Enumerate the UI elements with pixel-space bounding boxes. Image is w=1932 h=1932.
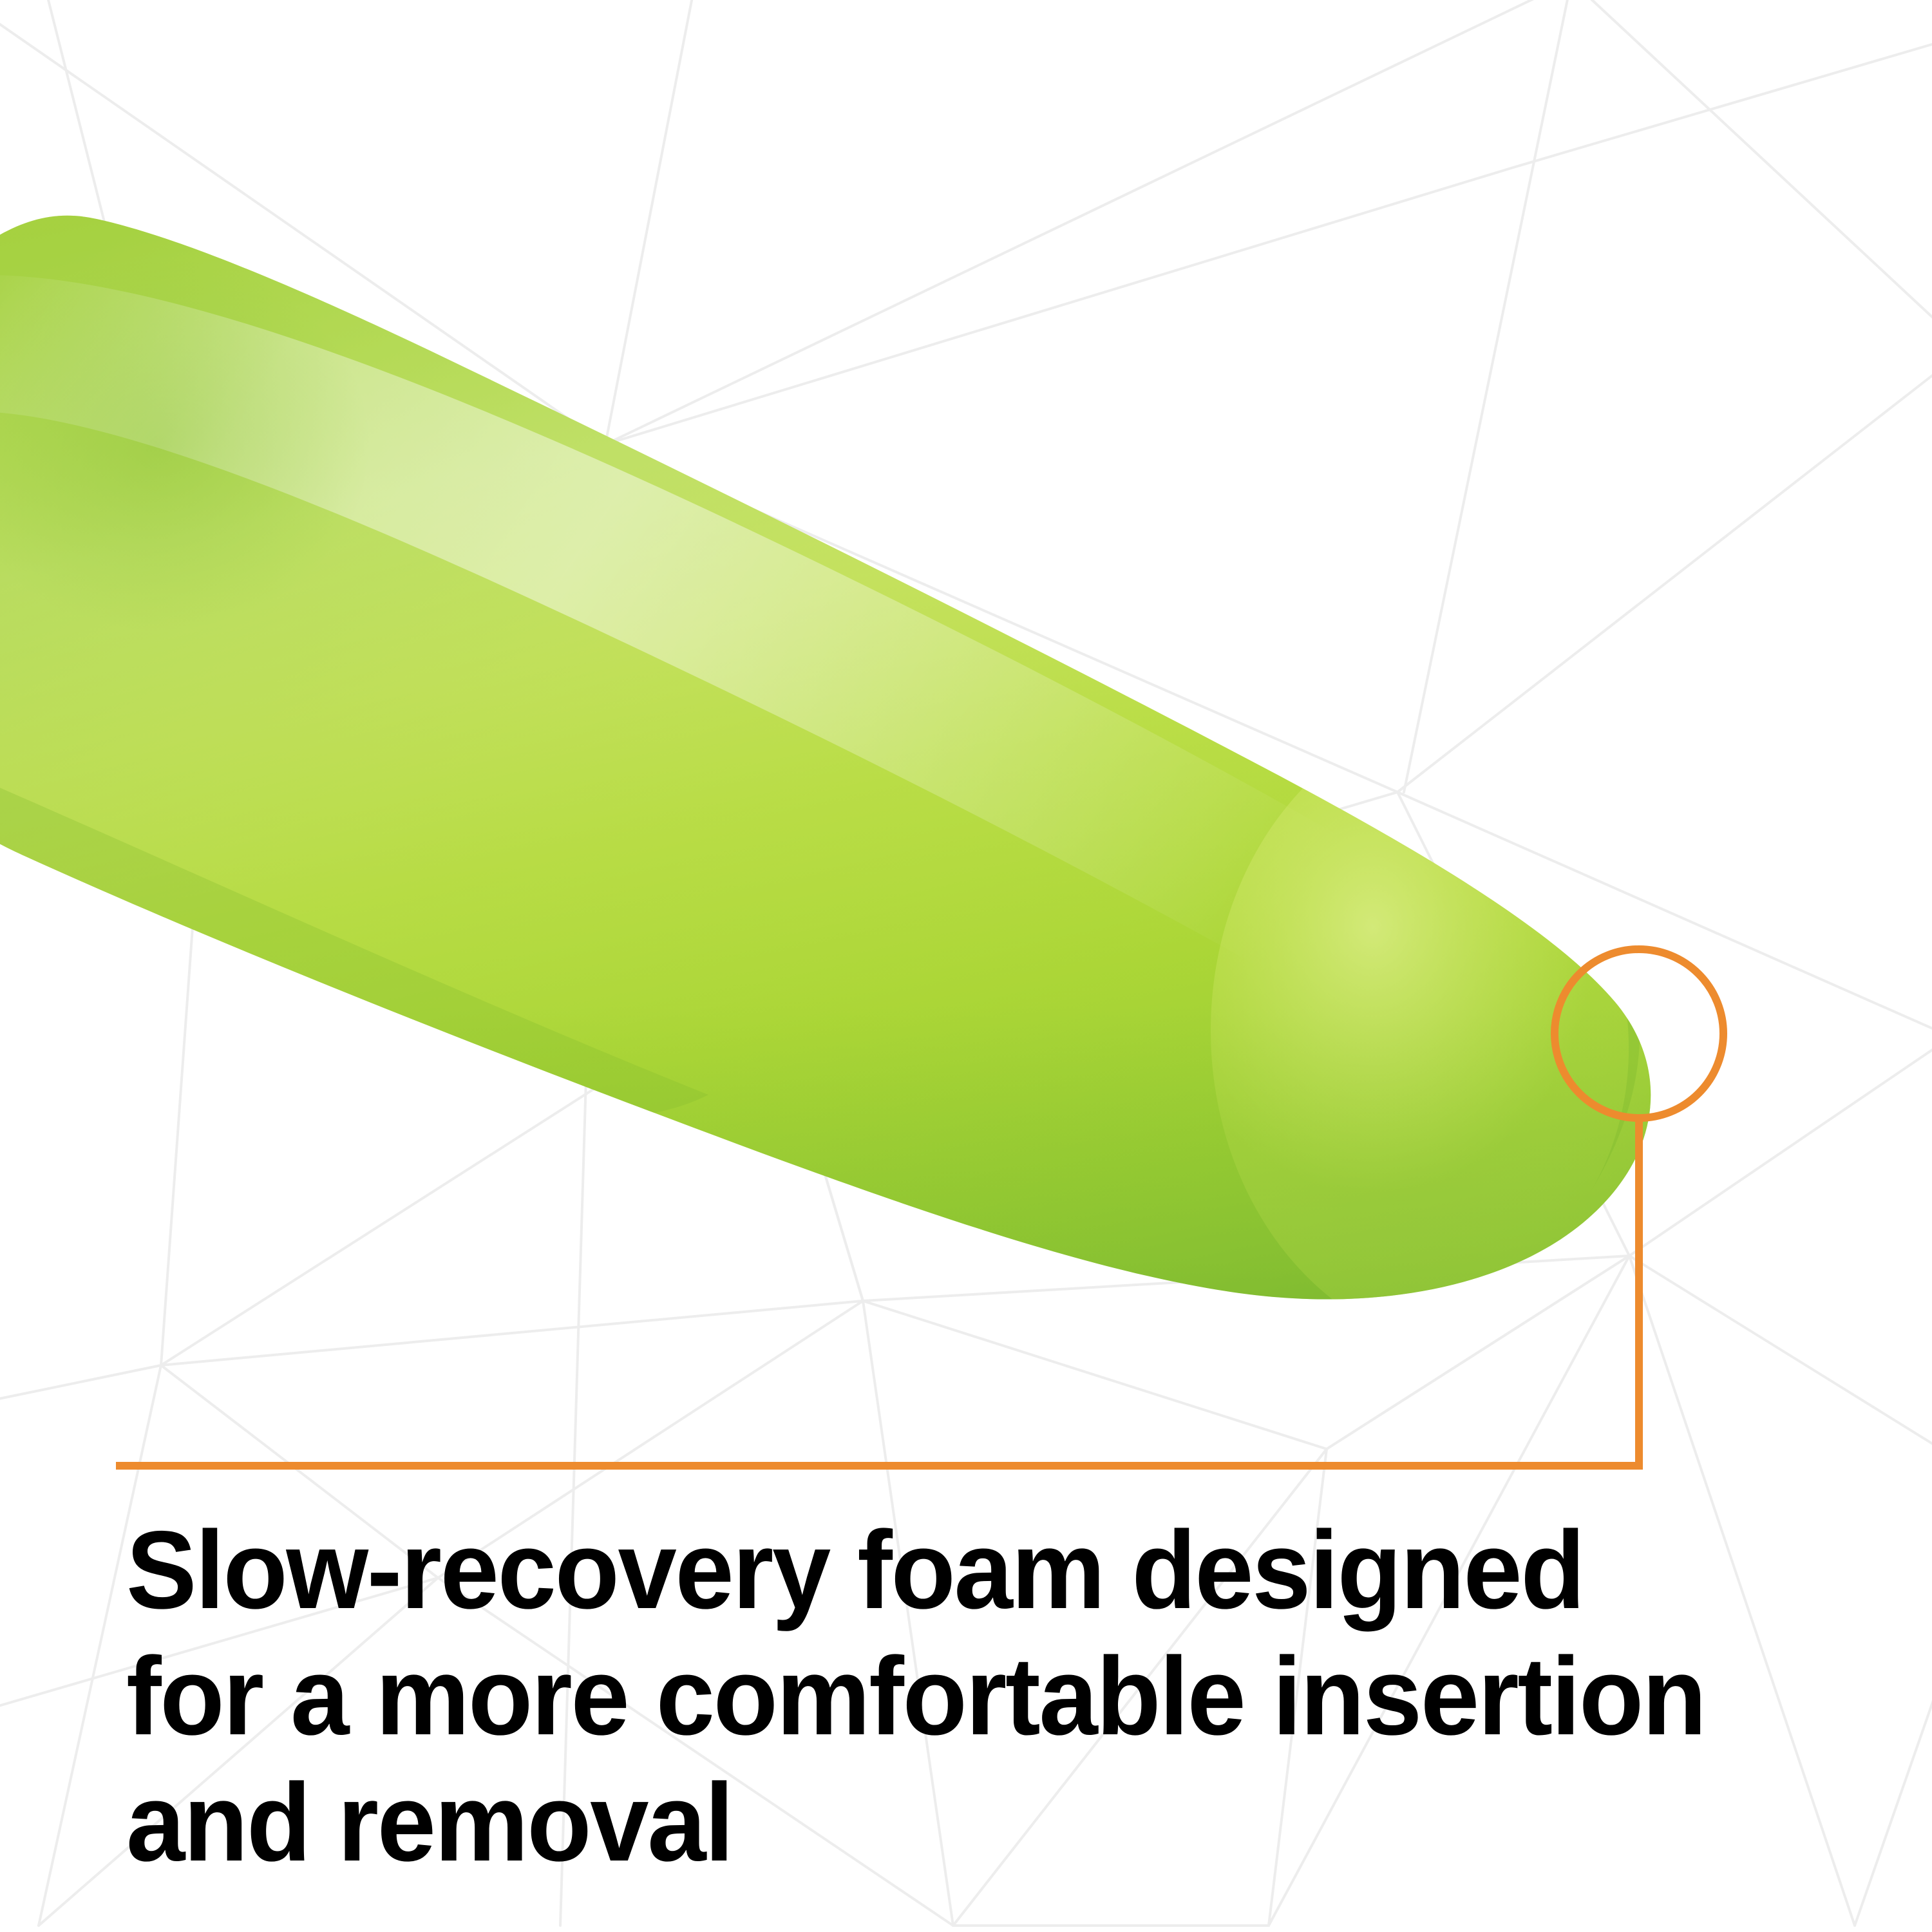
product-feature-image: Slow-recovery foam designed for a more c… <box>0 0 1932 1932</box>
caption-line-1: Slow-recovery foam designed <box>126 1507 1725 1633</box>
caption-line-2: for a more comfortable insertion <box>126 1633 1725 1759</box>
caption-block: Slow-recovery foam designed for a more c… <box>0 0 1932 1932</box>
caption-text: Slow-recovery foam designed for a more c… <box>126 1507 1801 1886</box>
caption-line-3: and removal <box>126 1759 1725 1886</box>
